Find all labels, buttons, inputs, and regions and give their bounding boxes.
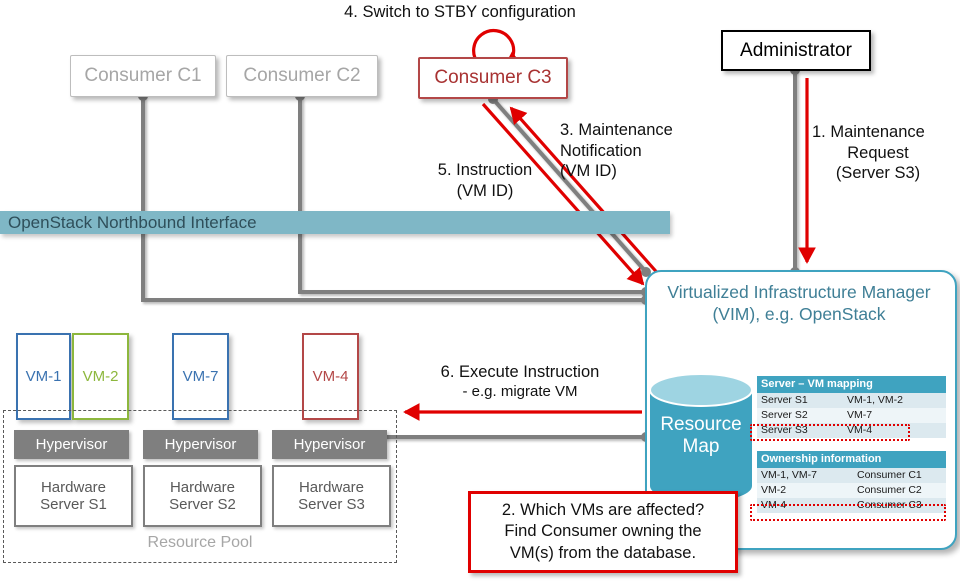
vim-title-line-1: Virtualized Infrastructure Manager bbox=[648, 282, 950, 304]
table-header-row: Ownership information bbox=[757, 451, 946, 468]
highlight-vm4-consumer-c3-row bbox=[750, 504, 946, 521]
vm-2-box[interactable]: VM-2 bbox=[72, 333, 129, 420]
server-vm-row-0-key: Server S1 bbox=[757, 393, 843, 408]
consumer-c3-box[interactable]: Consumer C3 bbox=[418, 57, 568, 99]
step-3-line-3: (VM ID) bbox=[560, 161, 720, 182]
hardware-server-s3[interactable]: Hardware Server S3 bbox=[272, 465, 391, 527]
hypervisor-2[interactable]: Hypervisor bbox=[143, 430, 258, 459]
ownership-header: Ownership information bbox=[757, 451, 946, 468]
step-4-label: 4. Switch to STBY configuration bbox=[280, 2, 640, 23]
diagram-canvas: Consumer C1 Consumer C2 Consumer C3 Admi… bbox=[0, 0, 960, 586]
step-6-line-2: - e.g. migrate VM bbox=[405, 383, 635, 402]
step-1-line-3: (Server S3) bbox=[812, 163, 944, 184]
resource-map-line-2: Map bbox=[648, 436, 754, 458]
hardware-server-s3-line-1: Hardware bbox=[298, 479, 365, 496]
hardware-server-s2-line-1: Hardware bbox=[169, 479, 236, 496]
consumer-c2-box[interactable]: Consumer C2 bbox=[226, 55, 378, 97]
step-2-callout[interactable]: 2. Which VMs are affected? Find Consumer… bbox=[468, 491, 738, 573]
server-vm-row-1-key: Server S2 bbox=[757, 408, 843, 423]
step-6-line-1: 6. Execute Instruction bbox=[405, 362, 635, 383]
vm-1-box[interactable]: VM-1 bbox=[16, 333, 71, 420]
hardware-server-s3-line-2: Server S3 bbox=[298, 496, 365, 513]
vm-4-box[interactable]: VM-4 bbox=[302, 333, 359, 420]
table-row[interactable]: VM-1, VM-7 Consumer C1 bbox=[757, 468, 946, 483]
vm-4-label: VM-4 bbox=[313, 368, 349, 385]
step-6-label: 6. Execute Instruction - e.g. migrate VM bbox=[405, 362, 635, 401]
hypervisor-3-label: Hypervisor bbox=[294, 436, 366, 453]
hardware-server-s1[interactable]: Hardware Server S1 bbox=[14, 465, 133, 527]
resource-map-database[interactable]: Resource Map bbox=[648, 374, 754, 502]
step-5-label: 5. Instruction (VM ID) bbox=[405, 160, 565, 201]
vm-7-box[interactable]: VM-7 bbox=[172, 333, 229, 420]
step-2-line-1: 2. Which VMs are affected? bbox=[502, 500, 704, 521]
table-row[interactable]: Server S2 VM-7 bbox=[757, 408, 946, 423]
resource-map-label: Resource Map bbox=[648, 414, 754, 458]
step-5-line-2: (VM ID) bbox=[405, 181, 565, 202]
northbound-interface-label: OpenStack Northbound Interface bbox=[8, 213, 257, 233]
hypervisor-2-label: Hypervisor bbox=[165, 436, 237, 453]
step-1-label: 1. Maintenance Request (Server S3) bbox=[812, 122, 960, 184]
ownership-row-1-key: VM-2 bbox=[757, 483, 853, 498]
administrator-label: Administrator bbox=[740, 40, 852, 62]
server-vm-row-1-value: VM-7 bbox=[843, 408, 946, 423]
step-3-label: 3. Maintenance Notification (VM ID) bbox=[560, 120, 720, 182]
highlight-server-s3-row bbox=[750, 424, 910, 441]
hardware-server-s1-line-2: Server S1 bbox=[40, 496, 107, 513]
step-1-line-1: 1. Maintenance bbox=[812, 122, 960, 143]
step-3-line-1: 3. Maintenance bbox=[560, 120, 720, 141]
table-row[interactable]: Server S1 VM-1, VM-2 bbox=[757, 393, 946, 408]
consumer-c2-label: Consumer C2 bbox=[243, 65, 360, 87]
resource-pool-label: Resource Pool bbox=[3, 533, 397, 553]
ownership-row-0-value: Consumer C1 bbox=[853, 468, 946, 483]
step-5-line-1: 5. Instruction bbox=[405, 160, 565, 181]
vm-1-label: VM-1 bbox=[26, 368, 62, 385]
server-vm-row-0-value: VM-1, VM-2 bbox=[843, 393, 946, 408]
table-header-row: Server – VM mapping bbox=[757, 376, 946, 393]
ownership-row-1-value: Consumer C2 bbox=[853, 483, 946, 498]
consumer-c3-label: Consumer C3 bbox=[434, 67, 551, 89]
resource-map-line-1: Resource bbox=[648, 414, 754, 436]
consumer-c1-box[interactable]: Consumer C1 bbox=[70, 55, 216, 97]
hypervisor-1[interactable]: Hypervisor bbox=[14, 430, 129, 459]
hardware-server-s1-line-1: Hardware bbox=[40, 479, 107, 496]
step-1-line-2: Request bbox=[812, 143, 944, 164]
vm-7-label: VM-7 bbox=[183, 368, 219, 385]
server-vm-mapping-header: Server – VM mapping bbox=[757, 376, 946, 393]
ownership-row-0-key: VM-1, VM-7 bbox=[757, 468, 853, 483]
vim-title-line-2: (VIM), e.g. OpenStack bbox=[648, 304, 950, 326]
step-2-line-2: Find Consumer owning the bbox=[502, 521, 704, 542]
step-3-line-2: Notification bbox=[560, 141, 720, 162]
consumer-c1-label: Consumer C1 bbox=[84, 65, 201, 87]
hypervisor-3[interactable]: Hypervisor bbox=[272, 430, 387, 459]
hardware-server-s2-line-2: Server S2 bbox=[169, 496, 236, 513]
step-2-line-3: VM(s) from the database. bbox=[502, 543, 704, 564]
hypervisor-1-label: Hypervisor bbox=[36, 436, 108, 453]
administrator-box[interactable]: Administrator bbox=[721, 30, 871, 71]
hardware-server-s2[interactable]: Hardware Server S2 bbox=[143, 465, 262, 527]
openstack-northbound-interface-bar: OpenStack Northbound Interface bbox=[0, 211, 670, 234]
vm-2-label: VM-2 bbox=[83, 368, 119, 385]
vim-title: Virtualized Infrastructure Manager (VIM)… bbox=[648, 282, 950, 326]
table-row[interactable]: VM-2 Consumer C2 bbox=[757, 483, 946, 498]
